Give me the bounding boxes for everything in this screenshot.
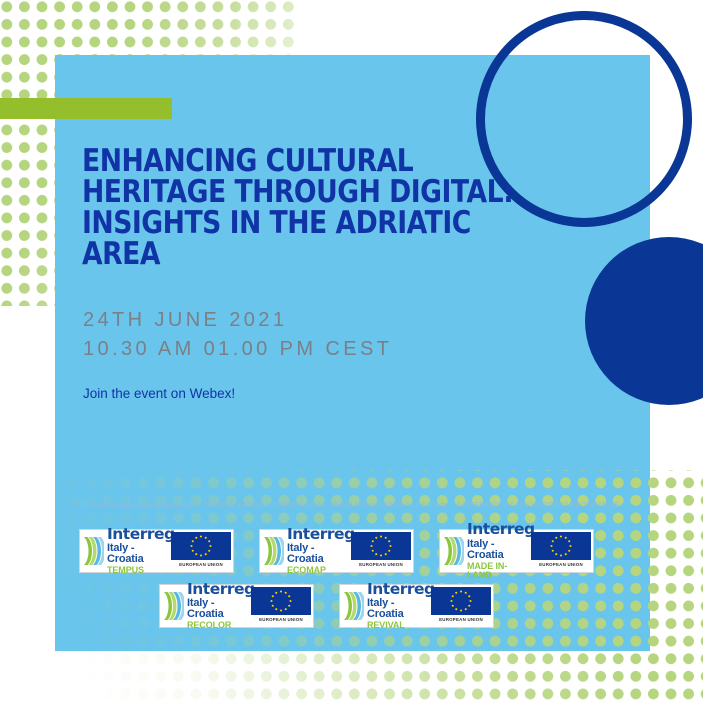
logo-row-bottom: InterregItaly - CroatiaRECOLOREUROPEAN U… [159, 584, 494, 628]
logo-text-stack: InterregItaly - CroatiaMADE IN-LAND [467, 522, 529, 580]
title-line-3: INSIGHTS IN THE ADRIATIC [82, 208, 426, 239]
eu-label: EUROPEAN UNION [539, 562, 583, 567]
logo-programme-name: Italy - Croatia [287, 543, 349, 565]
eu-flag-icon [431, 587, 491, 615]
funding-disclaimer: This event is organised by the projects … [76, 501, 619, 509]
interreg-waves-icon [443, 534, 464, 568]
eu-flag-icon [251, 587, 311, 615]
eu-label: EUROPEAN UNION [359, 562, 403, 567]
logo-brand-name: Interreg [187, 582, 249, 598]
interreg-waves-icon [83, 534, 104, 568]
logo-programme-name: Italy - Croatia [107, 543, 169, 565]
event-poster: ENHANCING CULTURAL HERITAGE THROUGH DIGI… [0, 0, 703, 703]
logo-project-name: RECOLOR [187, 621, 249, 630]
logo-text-stack: InterregItaly - CroatiaECOMAP [287, 527, 349, 576]
european-union-block: EUROPEAN UNION [529, 530, 593, 572]
european-union-block: EUROPEAN UNION [249, 585, 313, 627]
logo-wordmark-block: InterregItaly - CroatiaTEMPUS [80, 530, 169, 572]
logo-programme-name: Italy - Croatia [367, 598, 429, 620]
title-line-4: AREA [82, 239, 426, 270]
interreg-waves-icon [163, 589, 184, 623]
logo-programme-name: Italy - Croatia [187, 598, 249, 620]
logo-text-stack: InterregItaly - CroatiaTEMPUS [107, 527, 169, 576]
eu-flag-icon [171, 532, 231, 560]
logo-brand-name: Interreg [367, 582, 429, 598]
eu-flag-icon [531, 532, 591, 560]
interreg-waves-icon [343, 589, 364, 623]
join-webex-link[interactable]: Join the event on Webex! [83, 386, 235, 401]
logo-project-name: REVIVAL [367, 621, 429, 630]
logo-project-name: ECOMAP [287, 566, 349, 575]
title-line-1: ENHANCING CULTURAL [82, 146, 426, 177]
european-union-block: EUROPEAN UNION [349, 530, 413, 572]
interreg-logo-tempus: InterregItaly - CroatiaTEMPUSEUROPEAN UN… [79, 529, 234, 573]
eu-flag-icon [351, 532, 411, 560]
logo-project-name: MADE IN-LAND [467, 562, 529, 580]
european-union-block: EUROPEAN UNION [169, 530, 233, 572]
logo-wordmark-block: InterregItaly - CroatiaECOMAP [260, 530, 349, 572]
interreg-logo-ecomap: InterregItaly - CroatiaECOMAPEUROPEAN UN… [259, 529, 414, 573]
logo-wordmark-block: InterregItaly - CroatiaREVIVAL [340, 585, 429, 627]
event-datetime: 24TH JUNE 2021 10.30 AM 01.00 PM CEST [83, 306, 392, 364]
event-time: 10.30 AM 01.00 PM CEST [83, 335, 392, 364]
eu-label: EUROPEAN UNION [439, 617, 483, 622]
eu-label: EUROPEAN UNION [259, 617, 303, 622]
logo-text-stack: InterregItaly - CroatiaREVIVAL [367, 582, 429, 631]
event-date: 24TH JUNE 2021 [83, 306, 392, 335]
title-line-2: HERITAGE THROUGH DIGITAL: [82, 177, 426, 208]
logo-project-name: TEMPUS [107, 566, 169, 575]
page-title: ENHANCING CULTURAL HERITAGE THROUGH DIGI… [82, 146, 426, 270]
interreg-logo-made-in-land: InterregItaly - CroatiaMADE IN-LANDEUROP… [439, 529, 594, 573]
logo-wordmark-block: InterregItaly - CroatiaMADE IN-LAND [440, 530, 529, 572]
logo-programme-name: Italy - Croatia [467, 539, 529, 561]
interreg-logo-recolor: InterregItaly - CroatiaRECOLOREUROPEAN U… [159, 584, 314, 628]
interreg-waves-icon [263, 534, 284, 568]
logo-row-top: InterregItaly - CroatiaTEMPUSEUROPEAN UN… [79, 529, 594, 573]
logo-text-stack: InterregItaly - CroatiaRECOLOR [187, 582, 249, 631]
logo-wordmark-block: InterregItaly - CroatiaRECOLOR [160, 585, 249, 627]
green-bar-decoration [0, 98, 172, 119]
logo-brand-name: Interreg [467, 522, 529, 538]
european-union-block: EUROPEAN UNION [429, 585, 493, 627]
logo-brand-name: Interreg [107, 527, 169, 543]
interreg-logo-revival: InterregItaly - CroatiaREVIVALEUROPEAN U… [339, 584, 494, 628]
eu-label: EUROPEAN UNION [179, 562, 223, 567]
logo-brand-name: Interreg [287, 527, 349, 543]
